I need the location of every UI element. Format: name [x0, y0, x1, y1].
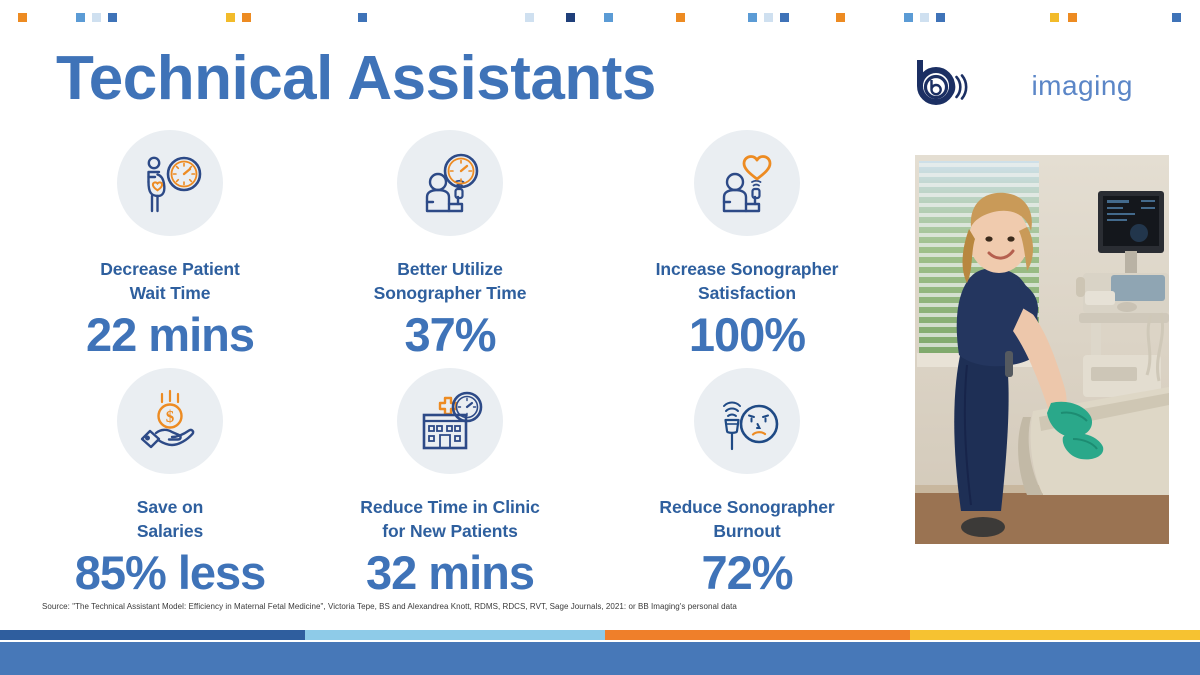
stat-label: Better Utilize Sonographer Time — [305, 258, 595, 305]
decorative-dot — [604, 13, 613, 22]
decorative-dot — [566, 13, 575, 22]
stat-value: 100% — [602, 309, 892, 361]
bottom-bar-segment — [605, 630, 910, 640]
footer-band — [0, 642, 1200, 675]
decorative-dot — [920, 13, 929, 22]
decorative-dot — [748, 13, 757, 22]
stat-value: 32 mins — [305, 547, 595, 599]
svg-text:$: $ — [166, 407, 175, 426]
decorative-dot — [1068, 13, 1077, 22]
logo-wordmark: imaging — [1031, 70, 1133, 102]
pregnant-patient-clock-icon — [117, 130, 223, 236]
stat-card-reduce-sonographer-burnout: Reduce Sonographer Burnout 72% — [602, 368, 892, 599]
decorative-dot — [18, 13, 27, 22]
stat-label-line2: Salaries — [137, 521, 203, 541]
stat-value: 85% less — [25, 547, 315, 599]
slide-root: Technical Assistants imaging — [0, 0, 1200, 675]
stat-label-line2: Sonographer Time — [374, 283, 527, 303]
bb-imaging-logo: imaging — [910, 56, 1166, 108]
stat-label-line2: for New Patients — [382, 521, 518, 541]
stat-card-reduce-time-in-clinic: Reduce Time in Clinic for New Patients 3… — [305, 368, 595, 599]
probe-sad-face-icon — [694, 368, 800, 474]
stat-label-line2: Burnout — [713, 521, 780, 541]
sonographer-probe-clock-icon — [397, 130, 503, 236]
bottom-bar-segment — [0, 630, 305, 640]
decorative-dot — [904, 13, 913, 22]
decorative-dot — [780, 13, 789, 22]
decorative-dot — [108, 13, 117, 22]
clinic-building-clock-icon — [397, 368, 503, 474]
decorative-dot — [676, 13, 685, 22]
sonographer-probe-heart-icon — [694, 130, 800, 236]
stat-card-increase-sonographer-satisfaction: Increase Sonographer Satisfaction 100% — [602, 130, 892, 361]
decorative-dot — [76, 13, 85, 22]
stat-label-line2: Wait Time — [130, 283, 211, 303]
decorative-dot — [525, 13, 534, 22]
stat-card-better-utilize-sonographer-time: Better Utilize Sonographer Time 37% — [305, 130, 595, 361]
stat-label: Save on Salaries — [25, 496, 315, 543]
stat-label-line1: Save on — [137, 497, 203, 517]
bottom-color-bar — [0, 630, 1200, 640]
stat-label-line1: Reduce Time in Clinic — [360, 497, 539, 517]
bottom-bar-segment — [910, 630, 1200, 640]
decorative-dot — [226, 13, 235, 22]
source-note: Source: "The Technical Assistant Model: … — [42, 602, 737, 611]
decorative-dot — [1172, 13, 1181, 22]
stat-label-line1: Increase Sonographer — [656, 259, 839, 279]
stat-value: 37% — [305, 309, 595, 361]
stat-label: Reduce Time in Clinic for New Patients — [305, 496, 595, 543]
decorative-dot — [92, 13, 101, 22]
stat-label: Decrease Patient Wait Time — [25, 258, 315, 305]
hand-dollar-coin-icon: $ — [117, 368, 223, 474]
sonographer-photo — [915, 155, 1169, 544]
decorative-dot — [836, 13, 845, 22]
decorative-dot — [242, 13, 251, 22]
stat-label-line1: Better Utilize — [397, 259, 503, 279]
stat-label: Reduce Sonographer Burnout — [602, 496, 892, 543]
stat-card-decrease-patient-wait-time: Decrease Patient Wait Time 22 mins — [25, 130, 315, 361]
decorative-dot — [936, 13, 945, 22]
decorative-dot — [358, 13, 367, 22]
stat-label-line1: Reduce Sonographer — [659, 497, 834, 517]
top-dot-decoration — [0, 0, 1200, 34]
stat-label-line1: Decrease Patient — [100, 259, 239, 279]
stat-value: 72% — [602, 547, 892, 599]
sonographer-photo-illustration — [915, 155, 1169, 544]
stat-card-save-on-salaries: $ Save on Salaries 85% less — [25, 368, 315, 599]
bottom-bar-segment — [305, 630, 605, 640]
stat-value: 22 mins — [25, 309, 315, 361]
page-title: Technical Assistants — [56, 46, 656, 111]
stat-label-line2: Satisfaction — [698, 283, 796, 303]
stat-label: Increase Sonographer Satisfaction — [602, 258, 892, 305]
stats-grid: Decrease Patient Wait Time 22 mins — [10, 130, 890, 600]
decorative-dot — [1050, 13, 1059, 22]
decorative-dot — [764, 13, 773, 22]
